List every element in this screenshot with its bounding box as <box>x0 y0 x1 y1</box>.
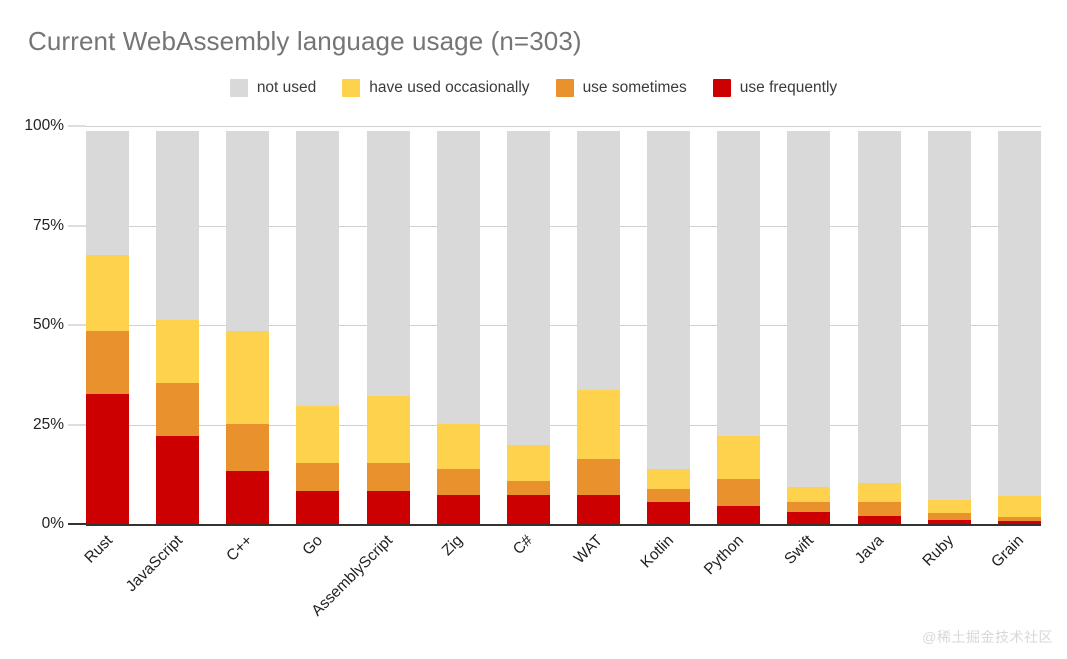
x-axis-tick-label: Kotlin <box>637 532 677 572</box>
x-axis-label-slot: Zig <box>437 528 480 618</box>
bar-segment[interactable] <box>647 469 690 489</box>
x-axis-tick-label: Ruby <box>920 532 958 570</box>
bar-segment[interactable] <box>647 502 690 524</box>
watermark: @稀土掘金技术社区 <box>922 627 1053 647</box>
bar-column[interactable] <box>296 131 339 524</box>
bar-segment[interactable] <box>858 483 901 503</box>
legend-item[interactable]: not used <box>230 79 316 97</box>
legend-swatch-icon <box>556 79 574 97</box>
plot-area <box>86 126 1041 524</box>
x-axis-tick-label: Swift <box>781 532 817 568</box>
bar-segment[interactable] <box>928 131 971 500</box>
x-axis-label-slot: Swift <box>787 528 830 618</box>
bar-segment[interactable] <box>226 131 269 331</box>
x-axis-label-slot: Python <box>717 528 760 618</box>
bar-segment[interactable] <box>367 396 410 463</box>
x-axis-tick-label: Zig <box>439 532 467 560</box>
bar-column[interactable] <box>86 131 129 524</box>
bar-segment[interactable] <box>86 255 129 332</box>
bar-segment[interactable] <box>156 131 199 320</box>
bar-segment[interactable] <box>787 487 830 503</box>
bar-segment[interactable] <box>226 424 269 471</box>
bar-segment[interactable] <box>787 512 830 524</box>
bar-segment[interactable] <box>717 131 760 436</box>
x-axis-label-slot: Kotlin <box>647 528 690 618</box>
x-axis-label-slot: C# <box>507 528 550 618</box>
bar-segment[interactable] <box>577 459 620 494</box>
bar-column[interactable] <box>577 131 620 524</box>
gridline <box>86 126 1041 127</box>
bar-column[interactable] <box>858 131 901 524</box>
bar-segment[interactable] <box>86 131 129 255</box>
x-axis-label-slot: C++ <box>226 528 269 618</box>
x-axis-tick-label: Python <box>701 532 748 579</box>
y-axis-tick-label: 100% <box>10 117 64 135</box>
bar-column[interactable] <box>156 131 199 524</box>
bar-segment[interactable] <box>437 131 480 424</box>
x-axis-tick-label: Java <box>852 532 888 568</box>
bar-segment[interactable] <box>928 500 971 513</box>
bar-column[interactable] <box>507 131 550 524</box>
bar-segment[interactable] <box>717 436 760 479</box>
legend-item[interactable]: use sometimes <box>556 79 687 97</box>
bar-column[interactable] <box>367 131 410 524</box>
bar-segment[interactable] <box>296 131 339 406</box>
bar-segment[interactable] <box>156 436 199 524</box>
bar-segment[interactable] <box>437 495 480 524</box>
bar-column[interactable] <box>226 131 269 524</box>
gridline <box>86 524 1041 526</box>
legend-item[interactable]: use frequently <box>713 79 837 97</box>
bar-column[interactable] <box>928 131 971 524</box>
chart-title: Current WebAssembly language usage (n=30… <box>28 26 582 57</box>
legend-label: use sometimes <box>583 79 687 97</box>
y-axis-tick-mark <box>68 424 86 425</box>
bar-segment[interactable] <box>998 131 1041 496</box>
x-axis-tick-label: Go <box>299 532 326 559</box>
legend-swatch-icon <box>230 79 248 97</box>
bar-segment[interactable] <box>296 406 339 463</box>
legend-label: not used <box>257 79 316 97</box>
x-axis-label-slot: Ruby <box>928 528 971 618</box>
x-axis-label-slot: JavaScript <box>156 528 199 618</box>
bar-column[interactable] <box>647 131 690 524</box>
bar-column[interactable] <box>717 131 760 524</box>
legend-swatch-icon <box>342 79 360 97</box>
bar-segment[interactable] <box>156 383 199 436</box>
bar-column[interactable] <box>787 131 830 524</box>
bar-segment[interactable] <box>647 131 690 469</box>
chart-container: Current WebAssembly language usage (n=30… <box>0 0 1067 659</box>
bar-segment[interactable] <box>647 489 690 503</box>
x-axis-labels: RustJavaScriptC++GoAssemblyScriptZigC#WA… <box>86 528 1041 618</box>
bar-segment[interactable] <box>86 331 129 394</box>
y-axis-tick-label: 25% <box>10 416 64 434</box>
legend-label: use frequently <box>740 79 837 97</box>
bar-segment[interactable] <box>998 521 1041 524</box>
bar-segment[interactable] <box>928 513 971 520</box>
bar-segment[interactable] <box>507 131 550 445</box>
legend-label: have used occasionally <box>369 79 529 97</box>
x-axis-tick-label: C# <box>510 532 537 559</box>
x-axis-label-slot: AssemblyScript <box>367 528 410 618</box>
bar-segment[interactable] <box>858 131 901 483</box>
bar-segment[interactable] <box>577 390 620 459</box>
bar-segment[interactable] <box>156 320 199 383</box>
y-axis-tick-mark <box>68 523 86 525</box>
x-axis-label-slot: Rust <box>86 528 129 618</box>
bar-segment[interactable] <box>717 506 760 524</box>
y-axis-tick-mark <box>68 225 86 226</box>
y-axis-tick-label: 0% <box>10 515 64 533</box>
x-axis-tick-label: Grain <box>989 532 1029 572</box>
bar-segment[interactable] <box>367 463 410 491</box>
bar-segment[interactable] <box>226 471 269 524</box>
bar-segment[interactable] <box>296 491 339 524</box>
bar-segment[interactable] <box>507 495 550 524</box>
x-axis-tick-label: WAT <box>571 532 607 568</box>
legend-item[interactable]: have used occasionally <box>342 79 529 97</box>
bar-segment[interactable] <box>296 463 339 491</box>
x-axis-label-slot: WAT <box>577 528 620 618</box>
y-axis-tick-mark <box>68 126 86 127</box>
bar-segment[interactable] <box>437 424 480 469</box>
legend-swatch-icon <box>713 79 731 97</box>
bar-segment[interactable] <box>226 331 269 423</box>
bar-segment[interactable] <box>507 481 550 495</box>
x-axis-tick-label: C++ <box>223 532 256 565</box>
x-axis-tick-label: JavaScript <box>122 532 186 596</box>
y-axis-tick-label: 75% <box>10 217 64 235</box>
bar-segment[interactable] <box>577 495 620 524</box>
bar-segment[interactable] <box>577 131 620 390</box>
bar-segment[interactable] <box>717 479 760 507</box>
x-axis-tick-label: Rust <box>81 532 116 567</box>
bar-segment[interactable] <box>858 516 901 524</box>
bar-segment[interactable] <box>86 394 129 524</box>
bar-segment[interactable] <box>787 502 830 512</box>
bar-segment[interactable] <box>787 131 830 487</box>
bar-segment[interactable] <box>858 502 901 516</box>
bar-segment[interactable] <box>437 469 480 495</box>
bar-segment[interactable] <box>367 131 410 396</box>
bar-column[interactable] <box>437 131 480 524</box>
x-axis-label-slot: Grain <box>998 528 1041 618</box>
y-axis-tick-mark <box>68 325 86 326</box>
chart-legend: not usedhave used occasionallyuse someti… <box>0 79 1067 97</box>
x-axis-label-slot: Java <box>858 528 901 618</box>
y-axis-tick-label: 50% <box>10 316 64 334</box>
bar-segment[interactable] <box>367 491 410 524</box>
bar-segment[interactable] <box>507 445 550 480</box>
bar-segment[interactable] <box>928 520 971 524</box>
bar-column[interactable] <box>998 131 1041 524</box>
bar-segment[interactable] <box>998 496 1041 516</box>
bar-group <box>86 131 1041 524</box>
